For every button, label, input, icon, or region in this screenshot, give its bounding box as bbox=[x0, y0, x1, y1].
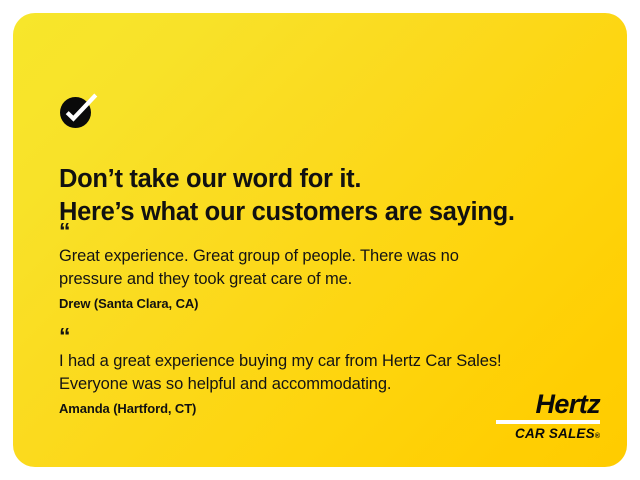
testimonial-quote: Great experience. Great group of people.… bbox=[59, 245, 604, 291]
testimonial-quote-line-1: I had a great experience buying my car f… bbox=[59, 350, 604, 373]
testimonial-attribution: Drew (Santa Clara, CA) bbox=[59, 295, 604, 312]
page-root: Don’t take our word for it. Here’s what … bbox=[0, 0, 640, 480]
testimonial-quote-line-2: pressure and they took great care of me. bbox=[59, 268, 604, 291]
check-circle-icon bbox=[57, 91, 99, 131]
car-sales-text: CAR SALES bbox=[515, 426, 595, 441]
page-title: Don’t take our word for it. Here’s what … bbox=[59, 163, 604, 229]
hertz-wordmark: Hertz bbox=[496, 390, 600, 418]
testimonial-quote-line-1: Great experience. Great group of people.… bbox=[59, 245, 604, 268]
quote-mark-icon: “ bbox=[59, 224, 604, 240]
hertz-car-sales-logo: Hertz CAR SALES® bbox=[496, 390, 600, 445]
quote-mark-icon: “ bbox=[59, 329, 604, 345]
testimonial-card: Don’t take our word for it. Here’s what … bbox=[13, 13, 627, 467]
testimonial-item: “ Great experience. Great group of peopl… bbox=[59, 224, 604, 312]
registered-mark: ® bbox=[595, 433, 600, 440]
car-sales-wordmark: CAR SALES® bbox=[496, 426, 600, 445]
headline-line-1: Don’t take our word for it. bbox=[59, 163, 604, 196]
logo-divider-rule bbox=[496, 420, 600, 424]
